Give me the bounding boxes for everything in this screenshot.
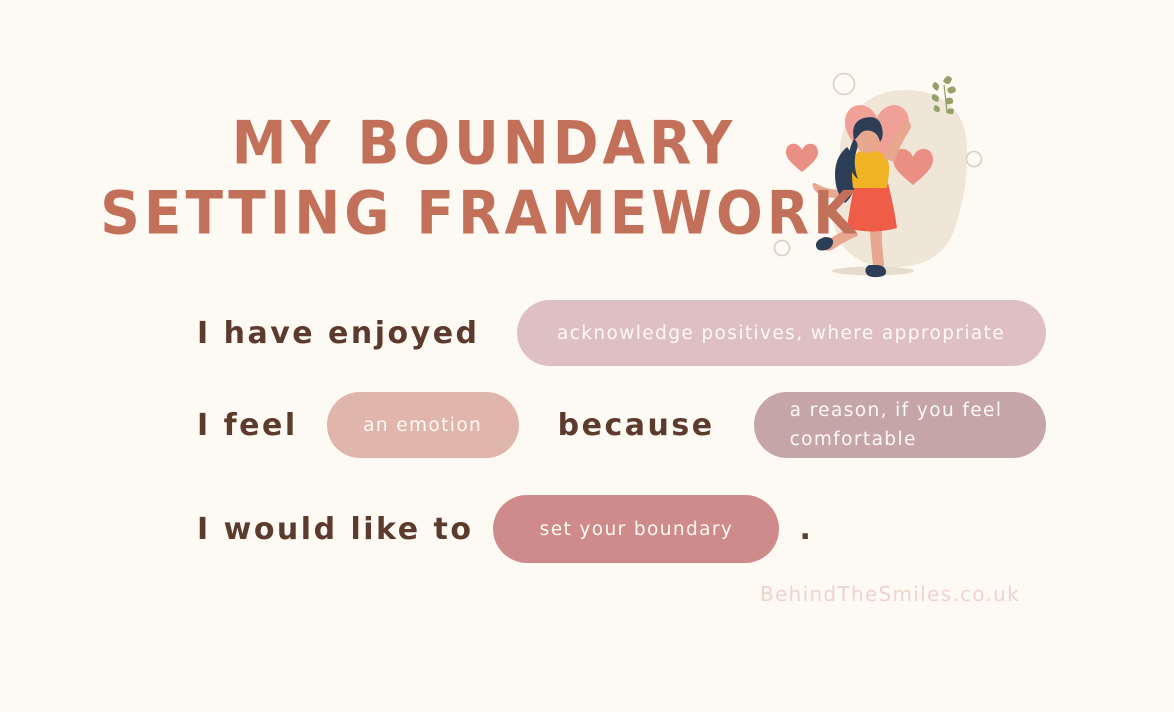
top-shirt	[852, 150, 889, 188]
pill-1-text: acknowledge positives, where appropriate	[557, 319, 1005, 348]
pill-acknowledge-positives[interactable]: acknowledge positives, where appropriate	[517, 300, 1046, 366]
sentence-row-3: I would like to set your boundary .	[197, 495, 811, 563]
illustration-woman-holding-heart	[770, 55, 1000, 295]
pill-set-your-boundary[interactable]: set your boundary	[493, 495, 779, 563]
pill-3-text: a reason, if you feel comfortable	[790, 396, 1003, 454]
phrase-because: because	[558, 408, 715, 443]
pill-a-reason[interactable]: a reason, if you feel comfortable	[754, 392, 1046, 458]
heart-small-left	[786, 144, 818, 172]
phrase-i-feel: I feel	[197, 408, 298, 443]
poster-canvas: MY BOUNDARY SETTING FRAMEWORK I have enj…	[0, 0, 1174, 712]
pill-an-emotion[interactable]: an emotion	[327, 392, 519, 458]
circle-outline-right	[967, 152, 982, 167]
skirt	[847, 183, 897, 232]
pill-4-text: set your boundary	[540, 515, 734, 544]
circle-outline-bottomleft	[775, 241, 790, 256]
shoe-front	[865, 265, 886, 277]
footer-website-credit[interactable]: BehindTheSmiles.co.uk	[760, 582, 1020, 606]
phrase-i-would-like-to: I would like to	[197, 512, 473, 547]
pill-2-text: an emotion	[363, 411, 482, 440]
phrase-i-have-enjoyed: I have enjoyed	[197, 316, 480, 351]
sentence-row-1: I have enjoyed acknowledge positives, wh…	[197, 300, 1046, 366]
sentence-row-2: I feel an emotion because a reason, if y…	[197, 392, 1046, 458]
sentence-period: .	[799, 512, 810, 547]
circle-outline-top	[834, 74, 855, 95]
